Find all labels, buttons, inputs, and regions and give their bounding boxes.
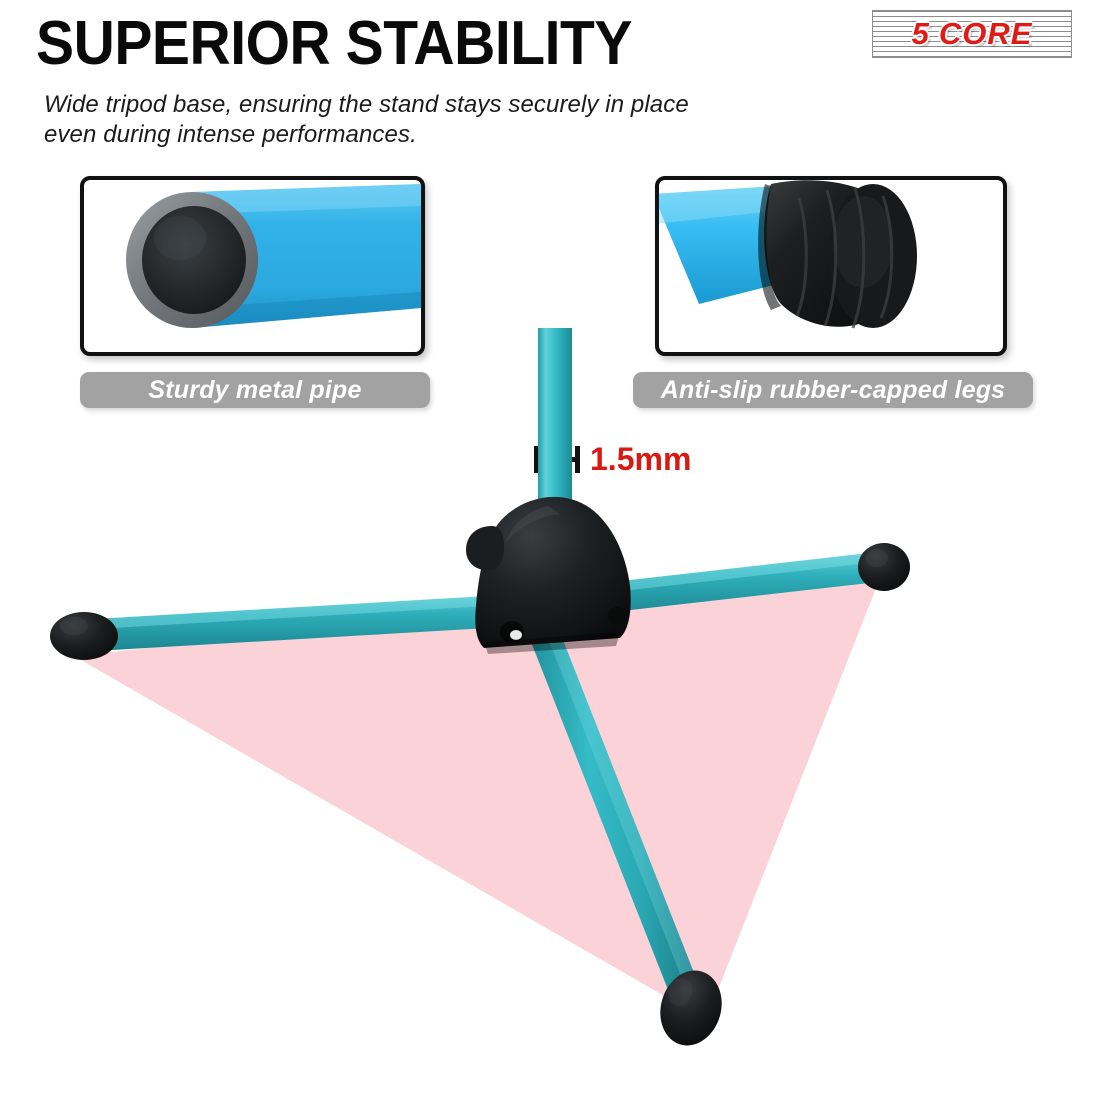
page-subtitle-line-1: Wide tripod base, ensuring the stand sta…: [44, 90, 804, 120]
infographic-page: SUPERIOR STABILITY Wide tripod base, ens…: [0, 0, 1096, 1096]
tripod-base-illustration: [0, 320, 1096, 1096]
tripod-hub: [466, 497, 631, 654]
brand-logo: 5 CORE: [872, 10, 1072, 58]
hub-side-hole: [608, 607, 626, 625]
leg-foot-right: [858, 543, 910, 591]
center-pole: [538, 328, 572, 516]
logo-number: 5: [912, 16, 930, 52]
page-title: SUPERIOR STABILITY: [36, 12, 632, 76]
leg-foot-left: [50, 612, 118, 660]
page-subtitle: Wide tripod base, ensuring the stand sta…: [44, 90, 804, 150]
page-subtitle-line-2: even during intense performances.: [44, 120, 804, 150]
logo-text: 5 CORE: [872, 10, 1072, 58]
logo-word: CORE: [939, 16, 1033, 52]
